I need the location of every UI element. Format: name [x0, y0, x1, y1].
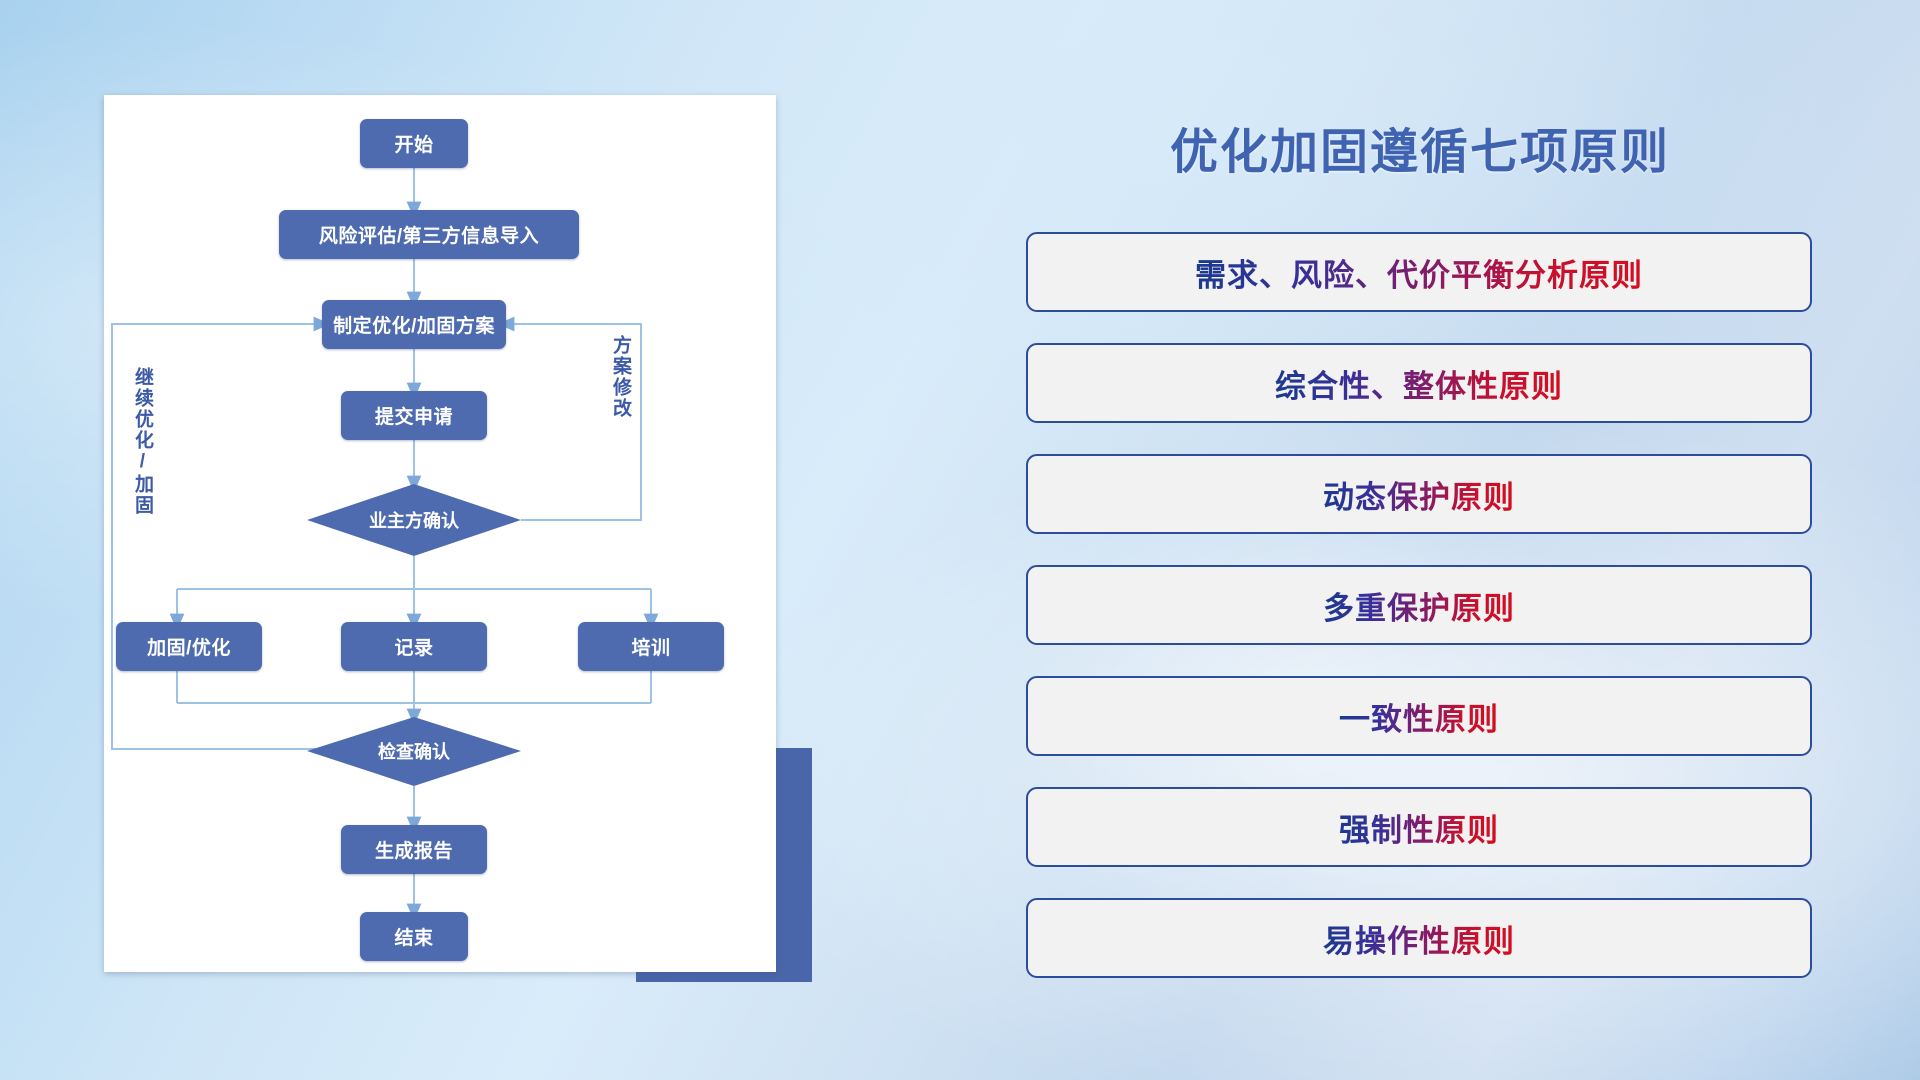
flow-node-label: 培训: [631, 633, 670, 660]
list-item[interactable]: 动态保护原则: [1022, 454, 1818, 540]
principle-card[interactable]: 需求、风险、代价平衡分析原则: [1026, 232, 1812, 312]
principle-label: 一致性原则: [1339, 694, 1499, 739]
flow-node-submit-application[interactable]: 提交申请: [341, 391, 487, 440]
flow-node-plan[interactable]: 制定优化/加固方案: [322, 300, 506, 349]
flow-node-risk-assessment[interactable]: 风险评估/第三方信息导入: [279, 210, 579, 259]
flow-node-reinforce[interactable]: 加固/优化: [116, 622, 262, 671]
flow-node-label: 结束: [394, 923, 433, 950]
principle-card[interactable]: 一致性原则: [1026, 676, 1812, 756]
flow-node-record[interactable]: 记录: [341, 622, 487, 671]
flow-node-label: 制定优化/加固方案: [333, 311, 495, 338]
principle-label: 多重保护原则: [1323, 583, 1515, 628]
list-item[interactable]: 需求、风险、代价平衡分析原则: [1022, 232, 1818, 318]
flow-node-end[interactable]: 结束: [360, 912, 468, 961]
principle-card[interactable]: 综合性、整体性原则: [1026, 343, 1812, 423]
principle-label: 综合性、整体性原则: [1275, 361, 1563, 406]
principle-label: 需求、风险、代价平衡分析原则: [1195, 250, 1643, 295]
flow-node-start[interactable]: 开始: [360, 119, 468, 168]
principle-card[interactable]: 多重保护原则: [1026, 565, 1812, 645]
flow-node-label: 记录: [394, 633, 433, 660]
list-item[interactable]: 综合性、整体性原则: [1022, 343, 1818, 429]
principle-card[interactable]: 易操作性原则: [1026, 898, 1812, 978]
page-title: 优化加固遵循七项原则: [1020, 112, 1820, 182]
list-item[interactable]: 多重保护原则: [1022, 565, 1818, 651]
list-item[interactable]: 强制性原则: [1022, 787, 1818, 873]
principle-label: 强制性原则: [1339, 805, 1499, 850]
principle-label: 动态保护原则: [1323, 472, 1515, 517]
flow-node-label: 开始: [394, 130, 433, 157]
principle-card[interactable]: 强制性原则: [1026, 787, 1812, 867]
flow-edge-label-continue-optimize: 继续优化/加固: [132, 367, 152, 516]
list-item[interactable]: 易操作性原则: [1022, 898, 1818, 984]
principles-list: 需求、风险、代价平衡分析原则 综合性、整体性原则 动态保护原则 多重保护原则 一…: [1022, 232, 1818, 1009]
flow-node-label: 提交申请: [375, 402, 453, 429]
flowchart-canvas: 开始 风险评估/第三方信息导入 制定优化/加固方案 提交申请 业主方确认 加固/…: [104, 95, 776, 972]
principle-card[interactable]: 动态保护原则: [1026, 454, 1812, 534]
flow-node-training[interactable]: 培训: [578, 622, 724, 671]
flow-node-label: 加固/优化: [147, 633, 231, 660]
list-item[interactable]: 一致性原则: [1022, 676, 1818, 762]
flow-node-label: 风险评估/第三方信息导入: [319, 221, 539, 248]
flow-node-label: 生成报告: [375, 836, 453, 863]
flow-node-generate-report[interactable]: 生成报告: [341, 825, 487, 874]
principle-label: 易操作性原则: [1323, 916, 1515, 961]
flowchart-card: 开始 风险评估/第三方信息导入 制定优化/加固方案 提交申请 业主方确认 加固/…: [104, 95, 776, 972]
flow-edge-label-plan-revision: 方案修改: [610, 335, 630, 419]
